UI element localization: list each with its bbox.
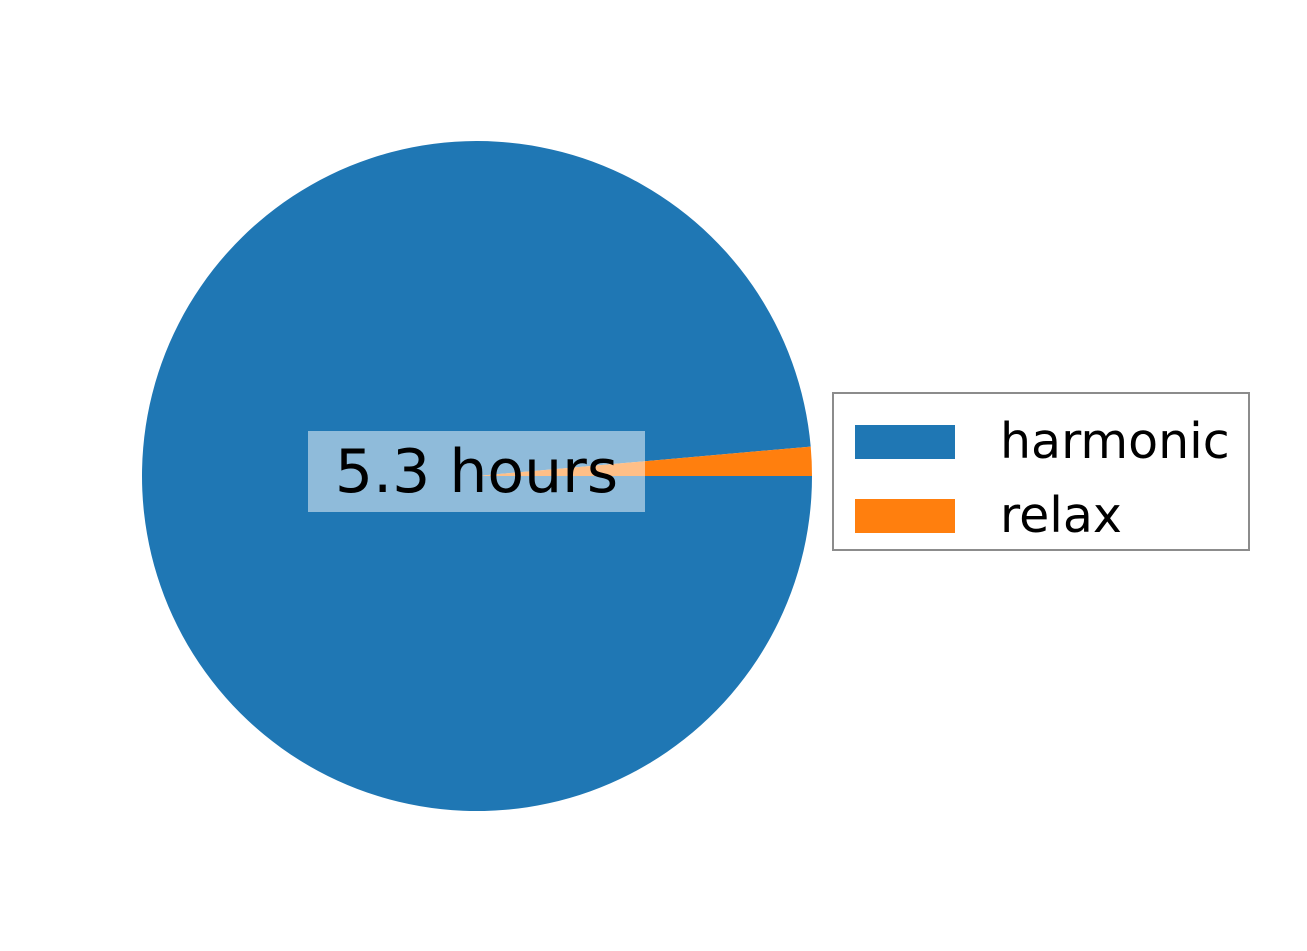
legend-swatch-relax: [855, 499, 955, 533]
legend-item-harmonic[interactable]: harmonic: [834, 416, 1248, 468]
chart-legend: harmonic relax: [832, 392, 1250, 551]
legend-label-harmonic: harmonic: [1000, 416, 1230, 468]
legend-label-relax: relax: [1000, 490, 1122, 542]
legend-item-relax[interactable]: relax: [834, 490, 1248, 542]
pie-slice-label-text: 5.3 hours: [335, 442, 618, 502]
legend-swatch-harmonic: [855, 425, 955, 459]
pie-chart-figure: 5.3 hours harmonic relax: [0, 0, 1307, 951]
pie-slice-label-harmonic: 5.3 hours: [308, 431, 645, 512]
